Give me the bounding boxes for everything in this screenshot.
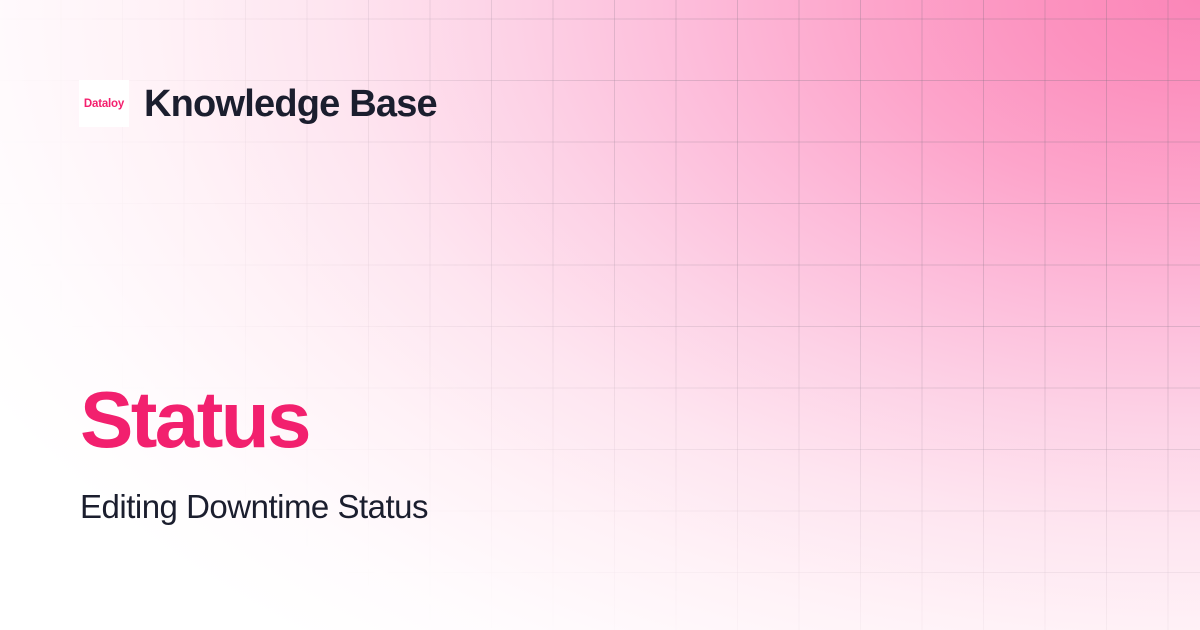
- knowledge-base-title: Knowledge Base: [144, 85, 437, 123]
- page-subtitle: Editing Downtime Status: [80, 487, 780, 527]
- dataloy-logo-text: Dataloy: [84, 98, 124, 110]
- dataloy-logo: Dataloy: [79, 80, 129, 127]
- hero-block: Status Editing Downtime Status: [80, 380, 780, 527]
- brand-header: Dataloy Knowledge Base: [79, 80, 437, 127]
- og-card-canvas: Dataloy Knowledge Base Status Editing Do…: [0, 0, 1200, 630]
- page-title: Status: [80, 380, 780, 460]
